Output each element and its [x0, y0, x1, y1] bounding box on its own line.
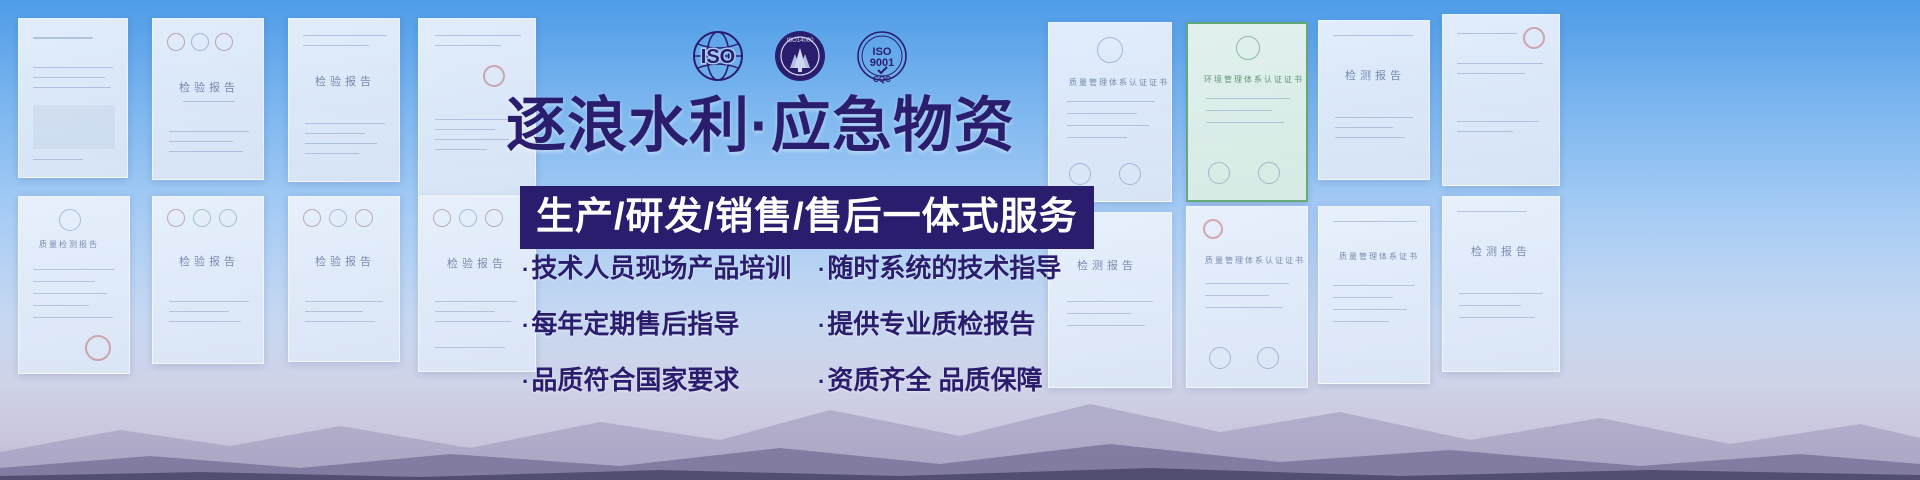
- certificate-card: 检验报告: [288, 196, 400, 362]
- svg-text:9001: 9001: [870, 57, 894, 69]
- certificate-card: [18, 18, 128, 178]
- feature-item: ·提供专业质检报告: [818, 304, 1035, 341]
- bullet-icon: ·: [522, 313, 529, 338]
- feature-item: ·品质符合国家要求: [522, 360, 818, 397]
- feature-label: 每年定期售后指导: [531, 309, 739, 339]
- iso-globe-badge: ISO: [690, 28, 746, 84]
- bullet-icon: ·: [818, 313, 825, 338]
- certification-badges: ISO ISO14000 ISO: [690, 28, 910, 84]
- feature-row: ·品质符合国家要求 ·资质齐全 品质保障: [522, 360, 1082, 397]
- bullet-icon: ·: [522, 369, 529, 394]
- feature-label: 技术人员现场产品培训: [531, 253, 791, 283]
- feature-item: ·随时系统的技术指导: [818, 248, 1061, 285]
- certificate-card: 检测报告: [1318, 20, 1430, 180]
- promo-banner: 检验报告 检验报告 质量管理体系认证证书: [0, 0, 1920, 480]
- certificate-card: 质量管理体系证书: [1318, 206, 1430, 384]
- bullet-icon: ·: [522, 257, 529, 282]
- certificate-card: 检测报告: [1442, 196, 1560, 372]
- feature-list: ·技术人员现场产品培训 ·随时系统的技术指导 ·每年定期售后指导 ·提供专业质检…: [522, 248, 1082, 416]
- feature-label: 随时系统的技术指导: [827, 253, 1061, 283]
- page-title: 逐浪水利·应急物资: [506, 96, 1086, 156]
- banner-content: ISO ISO14000 ISO: [500, 0, 1100, 480]
- bullet-icon: ·: [818, 257, 825, 282]
- svg-text:CQC: CQC: [873, 75, 891, 84]
- feature-label: 品质符合国家要求: [531, 365, 739, 395]
- certificate-card: 检验报告: [152, 196, 264, 364]
- svg-text:ISO: ISO: [701, 46, 735, 68]
- feature-label: 提供专业质检报告: [827, 309, 1035, 339]
- bullet-icon: ·: [818, 369, 825, 394]
- feature-item: ·技术人员现场产品培训: [522, 248, 818, 285]
- svg-text:ISO14000: ISO14000: [786, 38, 814, 44]
- feature-item: ·资质齐全 品质保障: [818, 360, 1043, 397]
- feature-label: 资质齐全 品质保障: [827, 365, 1042, 395]
- feature-row: ·技术人员现场产品培训 ·随时系统的技术指导: [522, 248, 1082, 285]
- certificate-card: 检验报告: [152, 18, 264, 180]
- service-subtitle-band: 生产/研发/销售/售后一体式服务: [520, 186, 1094, 249]
- feature-item: ·每年定期售后指导: [522, 304, 818, 341]
- certificate-card: 质量检测报告: [18, 196, 130, 374]
- certificate-card: [1442, 14, 1560, 186]
- certificate-card-green: 环境管理体系认证证书: [1186, 22, 1308, 202]
- iso9001-cqc-badge: ISO 9001 CQC: [854, 28, 910, 84]
- certificate-card: 检验报告: [288, 18, 400, 182]
- iso14000-badge: ISO14000: [772, 28, 828, 84]
- feature-row: ·每年定期售后指导 ·提供专业质检报告: [522, 304, 1082, 341]
